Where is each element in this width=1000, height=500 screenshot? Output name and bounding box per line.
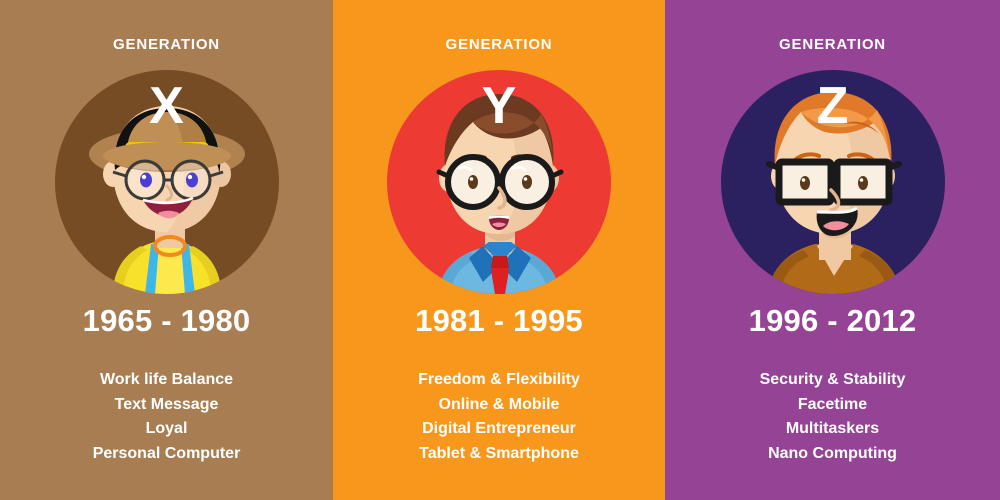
trait-item: Online & Mobile [333, 393, 665, 418]
panel-generation-x: GENERATION [0, 0, 333, 500]
trait-item: Work life Balance [0, 368, 333, 393]
generation-label-y: GENERATION [333, 37, 665, 52]
trait-item: Security & Stability [665, 368, 1000, 393]
trait-item: Digital Entrepreneur [333, 417, 665, 442]
trait-item: Multitaskers [665, 417, 1000, 442]
generation-label-x: GENERATION [0, 37, 333, 52]
trait-item: Nano Computing [665, 442, 1000, 467]
trait-item: Freedom & Flexibility [333, 368, 665, 393]
years-range-x: 1965 - 1980 [0, 305, 333, 336]
generation-letter-z: Z [721, 80, 945, 132]
traits-list-x: Work life Balance Text Message Loyal Per… [0, 368, 333, 466]
years-range-y: 1981 - 1995 [333, 305, 665, 336]
avatar-circle-x: X [55, 70, 279, 294]
avatar-circle-y: Y [387, 70, 611, 294]
panel-generation-z: GENERATION [665, 0, 1000, 500]
trait-item: Tablet & Smartphone [333, 442, 665, 467]
generation-label-z: GENERATION [665, 37, 1000, 52]
trait-item: Facetime [665, 393, 1000, 418]
traits-list-y: Freedom & Flexibility Online & Mobile Di… [333, 368, 665, 466]
generations-infographic: GENERATION [0, 0, 1000, 500]
panel-generation-y: GENERATION [333, 0, 665, 500]
years-range-z: 1996 - 2012 [665, 305, 1000, 336]
generation-letter-y: Y [387, 80, 611, 132]
trait-item: Personal Computer [0, 442, 333, 467]
trait-item: Loyal [0, 417, 333, 442]
trait-item: Text Message [0, 393, 333, 418]
generation-letter-x: X [55, 80, 279, 132]
avatar-circle-z: Z [721, 70, 945, 294]
traits-list-z: Security & Stability Facetime Multitaske… [665, 368, 1000, 466]
